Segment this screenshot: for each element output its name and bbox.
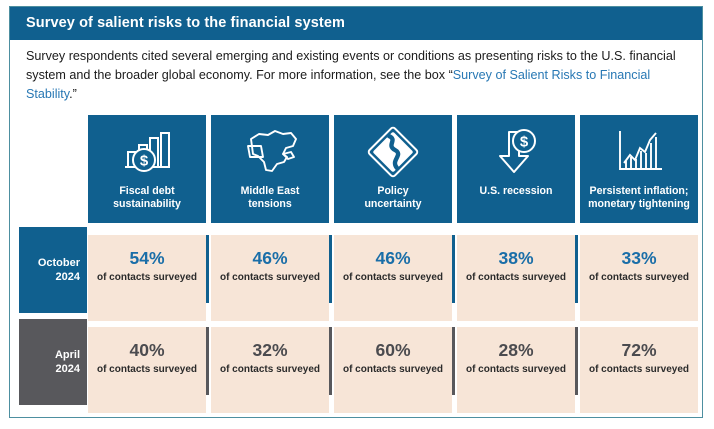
risk-column-middle-east-tensions: Middle East tensions 46% of contacts sur…: [211, 115, 329, 413]
risk-header-us-recession: $ U.S. recession: [457, 115, 575, 223]
risk-column-policy-uncertainty: Policy uncertainty 46% of contacts surve…: [334, 115, 452, 413]
risk-header-label-fiscal-debt-sustainability: Fiscal debt sustainability: [92, 185, 202, 211]
value-april-policy-uncertainty: 60%: [334, 340, 452, 361]
value-april-fiscal-debt-sustainability: 40%: [88, 340, 206, 361]
risk-header-persistent-inflation: Persistent inflation; monetary tightenin…: [580, 115, 698, 223]
winding-road-sign-icon: [334, 123, 452, 181]
caption-october-fiscal-debt-sustainability: of contacts surveyed: [94, 271, 200, 284]
risk-column-persistent-inflation: Persistent inflation; monetary tightenin…: [580, 115, 698, 413]
caption-october-policy-uncertainty: of contacts surveyed: [340, 271, 446, 284]
row-label-october-text: October 2024: [38, 256, 80, 284]
label-line-1: Policy: [377, 185, 408, 197]
value-october-middle-east-tensions: 46%: [211, 248, 329, 269]
cell-october-middle-east-tensions: 46% of contacts surveyed: [211, 235, 329, 321]
label-line-1: Middle East: [241, 185, 300, 197]
label-line-2: uncertainty: [364, 198, 421, 210]
row-label-october: October 2024: [19, 227, 87, 313]
figure-title-bar: Survey of salient risks to the financial…: [10, 7, 702, 40]
risk-header-middle-east-tensions: Middle East tensions: [211, 115, 329, 223]
caption-october-us-recession: of contacts surveyed: [463, 271, 569, 284]
caption-april-middle-east-tensions: of contacts surveyed: [217, 363, 323, 376]
value-october-persistent-inflation: 33%: [580, 248, 698, 269]
label-line-2: monetary tightening: [588, 198, 690, 210]
down-arrow-dollar-icon: $: [457, 123, 575, 181]
caption-october-persistent-inflation: of contacts surveyed: [586, 271, 692, 284]
cell-october-fiscal-debt-sustainability: 54% of contacts surveyed: [88, 235, 206, 321]
cell-october-policy-uncertainty: 46% of contacts surveyed: [334, 235, 452, 321]
caption-april-policy-uncertainty: of contacts surveyed: [340, 363, 446, 376]
cell-october-us-recession: 38% of contacts surveyed: [457, 235, 575, 321]
risk-column-us-recession: $ U.S. recession 38% of contacts surveye…: [457, 115, 575, 413]
value-october-us-recession: 38%: [457, 248, 575, 269]
caption-april-us-recession: of contacts surveyed: [463, 363, 569, 376]
cell-october-persistent-inflation: 33% of contacts surveyed: [580, 235, 698, 321]
label-line-1: Fiscal debt: [119, 185, 174, 197]
row-label-april-text: April 2024: [55, 348, 80, 376]
value-april-us-recession: 28%: [457, 340, 575, 361]
cell-april-policy-uncertainty: 60% of contacts surveyed: [334, 327, 452, 413]
risk-header-label-middle-east-tensions: Middle East tensions: [215, 185, 325, 211]
svg-text:$: $: [520, 134, 529, 151]
value-april-middle-east-tensions: 32%: [211, 340, 329, 361]
risk-header-fiscal-debt-sustainability: $ Fiscal debt sustainability: [88, 115, 206, 223]
svg-text:$: $: [140, 153, 149, 170]
rising-chart-icon: [580, 123, 698, 181]
risk-header-label-persistent-inflation: Persistent inflation; monetary tightenin…: [584, 185, 694, 211]
label-line-1: U.S. recession: [479, 185, 552, 197]
label-line-2: sustainability: [113, 198, 181, 210]
cell-april-fiscal-debt-sustainability: 40% of contacts surveyed: [88, 327, 206, 413]
label-line-1: Persistent inflation;: [590, 185, 689, 197]
risk-comparison-grid: October 2024 April 2024: [10, 115, 702, 417]
risk-header-label-policy-uncertainty: Policy uncertainty: [338, 185, 448, 211]
intro-text-after: .”: [69, 87, 77, 101]
risk-header-policy-uncertainty: Policy uncertainty: [334, 115, 452, 223]
risk-column-fiscal-debt-sustainability: $ Fiscal debt sustainability 54% of cont…: [88, 115, 206, 413]
label-line-2: tensions: [248, 198, 292, 210]
risk-header-label-us-recession: U.S. recession: [461, 185, 571, 198]
value-april-persistent-inflation: 72%: [580, 340, 698, 361]
value-october-fiscal-debt-sustainability: 54%: [88, 248, 206, 269]
cell-april-middle-east-tensions: 32% of contacts surveyed: [211, 327, 329, 413]
intro-paragraph: Survey respondents cited several emergin…: [26, 47, 682, 104]
caption-april-fiscal-debt-sustainability: of contacts surveyed: [94, 363, 200, 376]
cell-april-persistent-inflation: 72% of contacts surveyed: [580, 327, 698, 413]
middle-east-map-icon: [211, 123, 329, 181]
caption-april-persistent-inflation: of contacts surveyed: [586, 363, 692, 376]
page-title: Survey of salient risks to the financial…: [26, 15, 345, 31]
caption-october-middle-east-tensions: of contacts surveyed: [217, 271, 323, 284]
figure-frame: Survey of salient risks to the financial…: [9, 6, 703, 418]
bar-chart-dollar-icon: $: [88, 123, 206, 181]
cell-april-us-recession: 28% of contacts surveyed: [457, 327, 575, 413]
row-label-april: April 2024: [19, 319, 87, 405]
value-october-policy-uncertainty: 46%: [334, 248, 452, 269]
